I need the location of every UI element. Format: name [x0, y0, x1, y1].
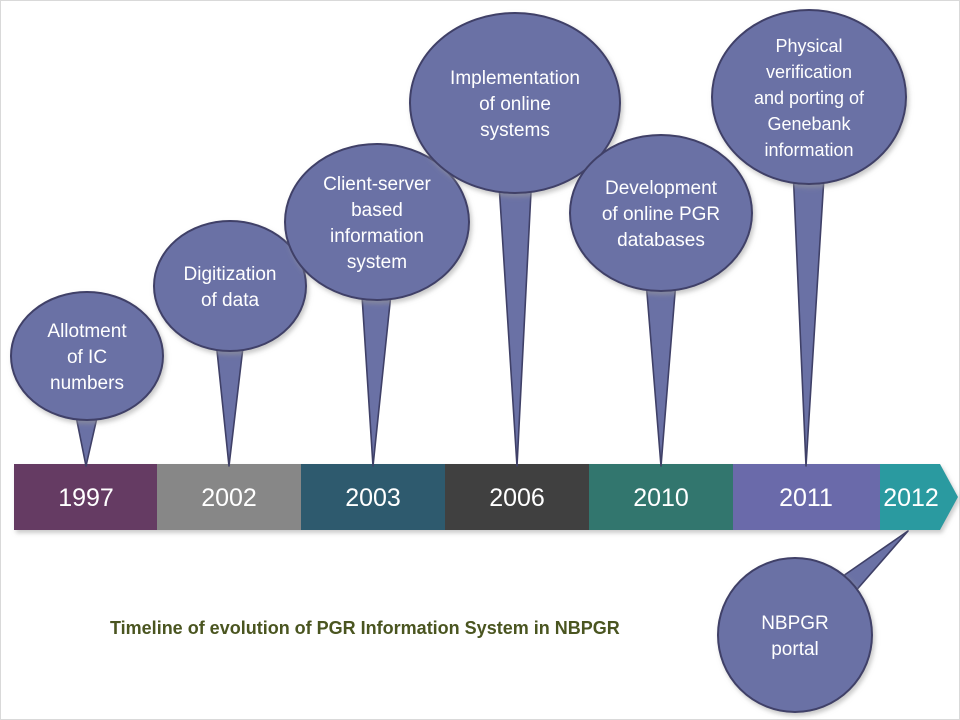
bubble-2010-line-0: Development	[605, 178, 718, 199]
bubble-2011-line-2: and porting of	[754, 88, 865, 108]
year-label-1997: 1997	[58, 484, 114, 512]
bubble-2010-line-1: of online PGR	[602, 204, 720, 225]
bubble-2011-tail	[792, 145, 826, 466]
bubble-1997[interactable]: Allotmentof ICnumbers	[11, 292, 163, 420]
bubble-tails	[71, 145, 908, 615]
bubble-2003-line-3: system	[347, 252, 407, 273]
bubble-1997-line-0: Allotment	[47, 321, 127, 342]
timeline-canvas: Allotmentof ICnumbersDigitizationof data…	[0, 0, 960, 720]
year-label-2012: 2012	[883, 484, 939, 512]
bubble-2011-line-0: Physical	[775, 36, 842, 56]
bubble-2012-line-1: portal	[771, 639, 819, 660]
bubble-2003-line-1: based	[351, 200, 403, 221]
bubble-2011-line-1: verification	[766, 62, 852, 82]
bubble-2012-line-0: NBPGR	[761, 613, 829, 634]
bubble-2006-line-0: Implementation	[450, 68, 580, 89]
bubble-2010-line-2: databases	[617, 230, 705, 251]
bubble-2006-line-2: systems	[480, 120, 550, 141]
year-label-2011: 2011	[779, 484, 833, 512]
diagram-caption: Timeline of evolution of PGR Information…	[110, 618, 620, 638]
bubble-2006-tail	[497, 153, 533, 467]
bubble-2011-line-3: Genebank	[767, 114, 851, 134]
year-label-2010: 2010	[633, 484, 689, 512]
bubble-2006-line-1: of online	[479, 94, 551, 115]
bubble-1997-line-2: numbers	[50, 373, 124, 394]
bubble-2002-shape	[154, 221, 306, 351]
bubble-2012[interactable]: NBPGRportal	[718, 558, 872, 712]
bubble-1997-line-1: of IC	[67, 347, 107, 368]
year-label-2006: 2006	[489, 484, 545, 512]
bubble-shapes: Allotmentof ICnumbersDigitizationof data…	[11, 10, 906, 712]
bubble-2002-line-1: of data	[201, 290, 260, 311]
bubble-2002[interactable]: Digitizationof data	[154, 221, 306, 351]
bubble-2011[interactable]: Physicalverificationand porting ofGeneba…	[712, 10, 906, 184]
bubble-2003-line-2: information	[330, 226, 424, 247]
bubble-2011-line-4: information	[764, 140, 853, 160]
bubble-2002-line-0: Digitization	[184, 264, 277, 285]
bubble-2010[interactable]: Developmentof online PGRdatabases	[570, 135, 752, 291]
timeline-diagram: Allotmentof ICnumbersDigitizationof data…	[0, 0, 960, 720]
bubble-2003-line-0: Client-server	[323, 174, 431, 195]
year-label-2002: 2002	[201, 484, 257, 512]
year-label-2003: 2003	[345, 484, 401, 512]
bubble-2012-shape	[718, 558, 872, 712]
